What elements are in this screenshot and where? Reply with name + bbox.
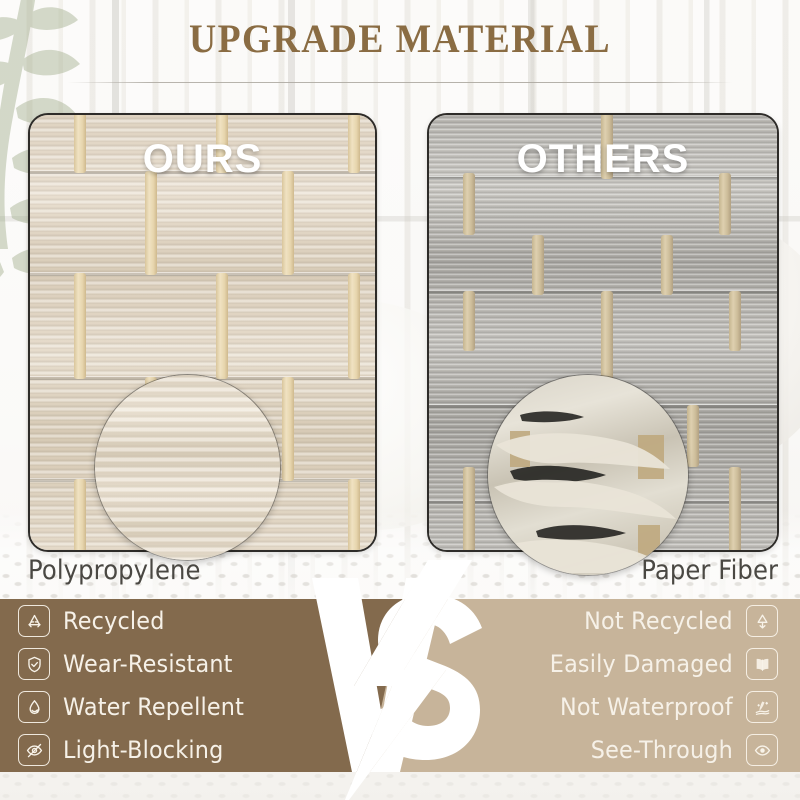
feature-label: Light-Blocking [63, 737, 223, 763]
material-name-ours: Polypropylene [28, 556, 201, 586]
page-title: UPGRADE MATERIAL [24, 17, 776, 61]
feature-label: Water Repellent [63, 694, 244, 720]
material-name-others: Paper Fiber [641, 556, 778, 586]
recycle-icon [18, 605, 50, 637]
panel-badge-ours: OURS [30, 137, 375, 181]
shield-check-icon [18, 648, 50, 680]
comparison-infographic: UPGRADE MATERIAL OURS [0, 0, 800, 800]
feature-label: Wear-Resistant [63, 651, 233, 677]
panel-badge-others: OTHERS [429, 137, 777, 181]
feature-label: See-Through [591, 737, 733, 763]
feature-label: Recycled [63, 608, 165, 634]
torn-book-icon [746, 648, 778, 680]
feature-label: Easily Damaged [550, 651, 733, 677]
water-splash-icon [746, 691, 778, 723]
eye-off-icon [18, 734, 50, 766]
feature-label: Not Waterproof [560, 694, 733, 720]
magnifier-circle-others [487, 374, 689, 576]
magnifier-circle-ours [94, 374, 281, 561]
eye-open-icon [746, 734, 778, 766]
feature-label: Not Recycled [584, 608, 733, 634]
title-divider [68, 82, 732, 83]
water-droplet-icon [18, 691, 50, 723]
non-recyclable-icon [746, 605, 778, 637]
versus-badge [296, 566, 506, 792]
